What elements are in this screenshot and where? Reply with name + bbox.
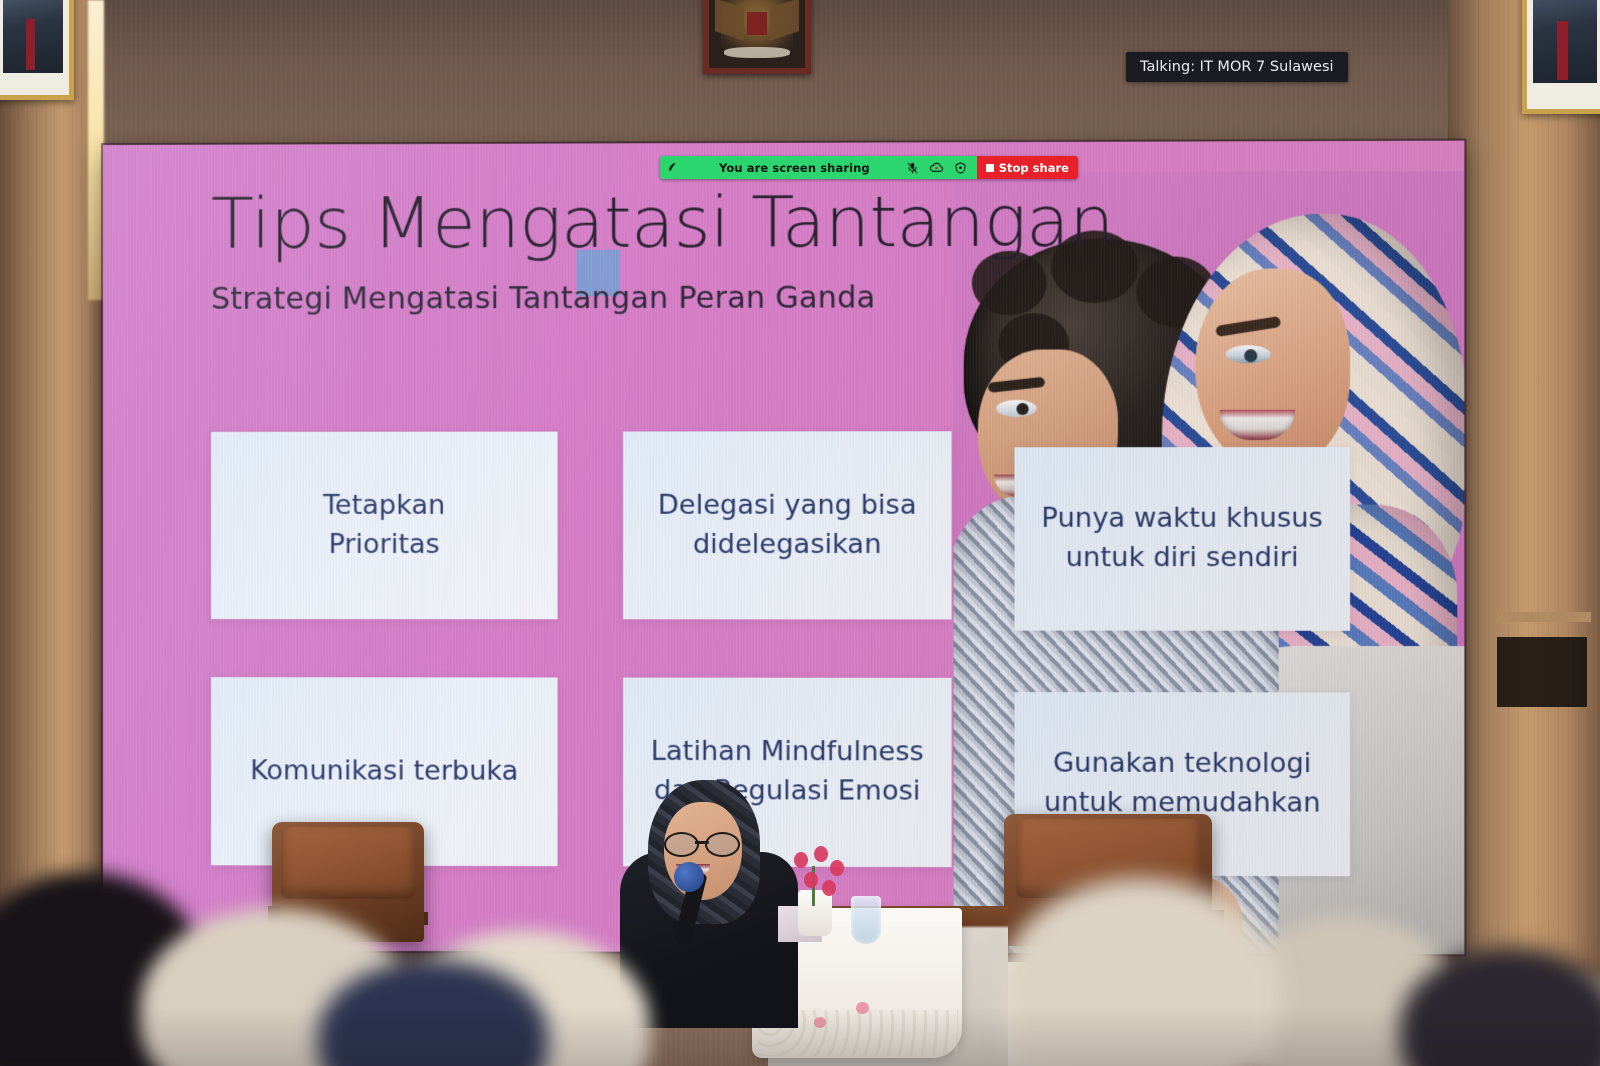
card-line: Punya waktu khusus bbox=[1041, 500, 1323, 539]
portrait-caption-right bbox=[1527, 98, 1600, 106]
card-line: Gunakan teknologi bbox=[1044, 745, 1321, 785]
card-line: Tetapkan bbox=[323, 486, 445, 525]
screenshot-stage: Tips Mengatasi Tantangan Strategi Mengat… bbox=[0, 0, 1600, 1066]
vent-trim bbox=[1497, 612, 1591, 622]
security-shield-icon[interactable] bbox=[953, 160, 968, 175]
zoom-share-toolbar[interactable]: You are screen sharing bbox=[660, 156, 1078, 179]
microphone-muted-icon[interactable] bbox=[905, 160, 920, 175]
wall-led-light-strip bbox=[88, 0, 104, 300]
slide-title: Tips Mengatasi Tantangan bbox=[211, 186, 1114, 259]
card-line: Prioritas bbox=[323, 525, 445, 564]
card-line: didelegasikan bbox=[658, 525, 917, 564]
wall-vent bbox=[1497, 637, 1587, 707]
card-line: Delegasi yang bisa bbox=[658, 486, 917, 525]
card-line: Latihan Mindfulness bbox=[651, 733, 924, 773]
garuda-pancasila-emblem-icon bbox=[703, 0, 811, 74]
right-wood-panel bbox=[1448, 0, 1600, 1066]
slide-subtitle: Strategi Mengatasi Tantangan Peran Ganda bbox=[211, 280, 875, 316]
card-delegasi: Delegasi yang bisa didelegasikan bbox=[623, 431, 952, 619]
cloud-recording-icon[interactable] bbox=[929, 160, 944, 175]
card-line: untuk diri sendiri bbox=[1041, 539, 1323, 578]
zoom-logo-icon bbox=[667, 161, 680, 174]
seated-speaker bbox=[612, 780, 802, 1020]
stop-square-icon bbox=[986, 164, 994, 172]
foreground-vignette bbox=[0, 1006, 1600, 1066]
card-waktu-khusus: Punya waktu khusus untuk diri sendiri bbox=[1014, 447, 1350, 631]
card-prioritas: Tetapkan Prioritas bbox=[211, 432, 557, 620]
portrait-caption-left bbox=[0, 84, 69, 92]
card-line: Komunikasi terbuka bbox=[250, 752, 518, 791]
framed-portrait-left bbox=[0, 0, 74, 100]
share-status-text: You are screen sharing bbox=[689, 161, 896, 175]
drinking-glass bbox=[851, 896, 881, 944]
framed-portrait-right bbox=[1522, 0, 1600, 114]
stop-share-button[interactable]: Stop share bbox=[977, 156, 1078, 179]
flower-bouquet bbox=[786, 846, 848, 904]
eyeglasses-icon bbox=[664, 832, 740, 854]
stop-share-label: Stop share bbox=[999, 161, 1069, 175]
share-status-group: You are screen sharing bbox=[660, 156, 977, 179]
talking-indicator: Talking: IT MOR 7 Sulawesi bbox=[1126, 52, 1348, 82]
